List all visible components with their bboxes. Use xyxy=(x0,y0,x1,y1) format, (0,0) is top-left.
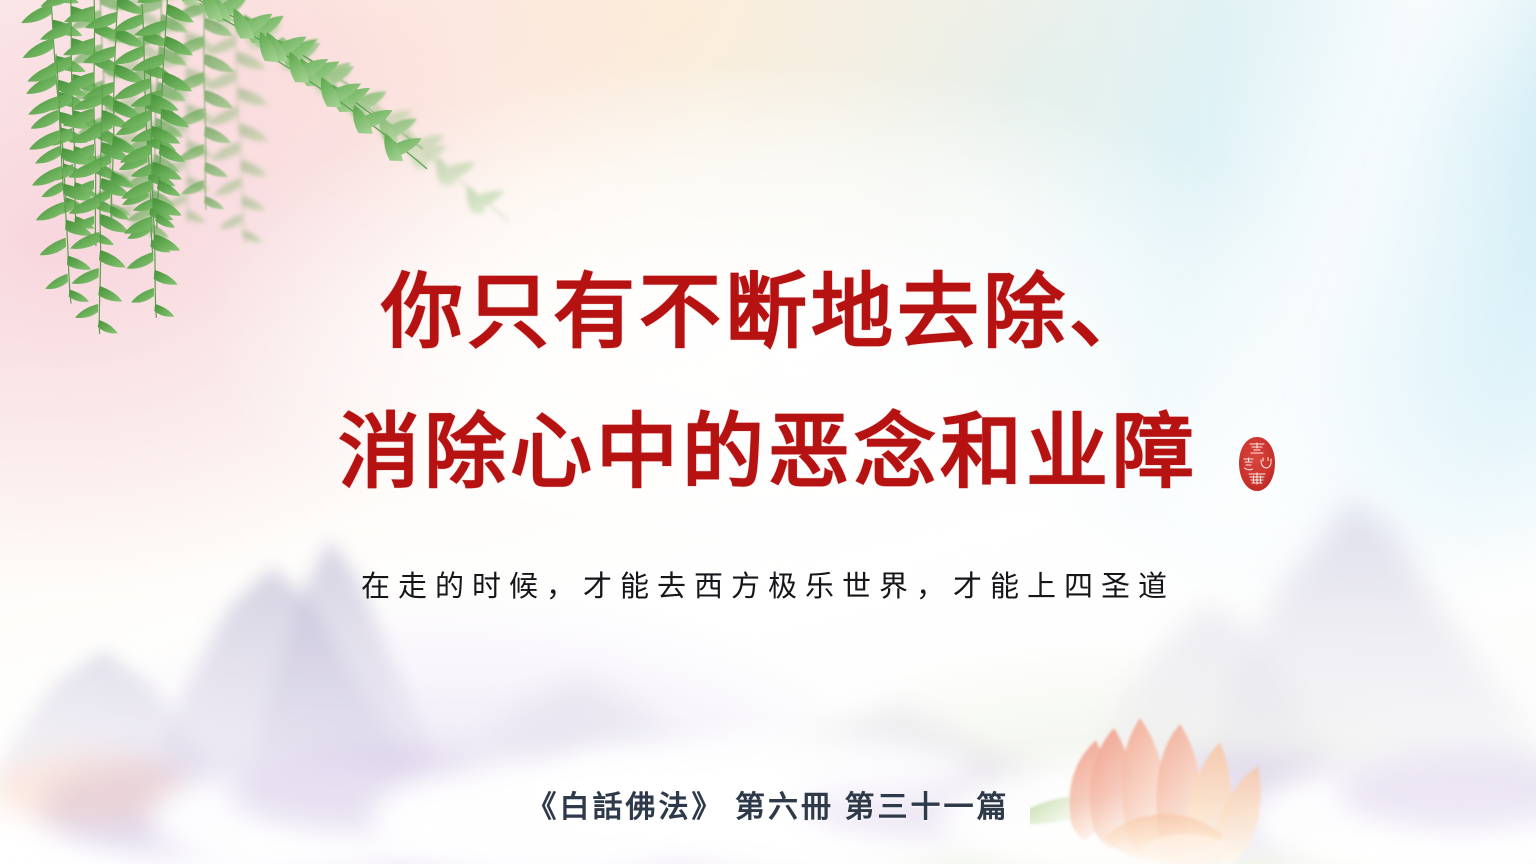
headline-line-1: 你只有不断地去除、 xyxy=(0,272,1536,354)
seal-stamp xyxy=(1237,436,1277,492)
headline-line-2: 消除心中的恶念和业障 xyxy=(0,412,1536,494)
source-citation: 《白話佛法》 第六冊 第三十一篇 xyxy=(0,782,1536,826)
subtitle-text: 在走的时候，才能去西方极乐世界，才能上四圣道 xyxy=(0,563,1536,605)
slide-canvas: 你只有不断地去除、 消除心中的恶念和业障 xyxy=(0,0,1536,864)
